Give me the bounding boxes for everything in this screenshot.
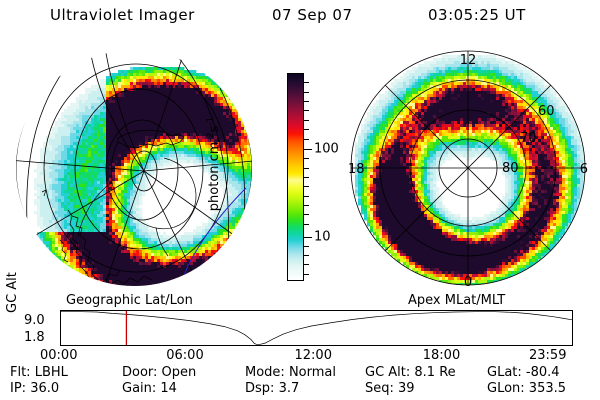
aurora-pixel (223, 274, 226, 277)
aurora-pixel (64, 124, 67, 127)
aurora-pixel (175, 85, 178, 88)
aurora-pixel (61, 253, 64, 256)
aurora-pixel (97, 280, 100, 283)
aurora-pixel (94, 103, 97, 106)
aurora-pixel (136, 112, 139, 115)
aurora-pixel (202, 298, 205, 301)
aurora-pixel (67, 220, 70, 223)
aurora-pixel (103, 85, 106, 88)
aurora-pixel (124, 190, 127, 193)
aurora-pixel (235, 241, 238, 244)
aurora-pixel (52, 229, 55, 232)
aurora-pixel (208, 253, 211, 256)
aurora-pixel (166, 79, 169, 82)
aurora-pixel (202, 91, 205, 94)
aurora-pixel (223, 292, 226, 295)
aurora-pixel (214, 109, 217, 112)
aurora-pixel (109, 136, 112, 139)
aurora-pixel (139, 277, 142, 280)
aurora-pixel (199, 103, 202, 106)
aurora-pixel (235, 94, 238, 97)
aurora-pixel (184, 124, 187, 127)
aurora-pixel (100, 268, 103, 271)
aurora-pixel (82, 175, 85, 178)
aurora-pixel (79, 193, 82, 196)
aurora-pixel (238, 262, 241, 265)
aurora-pixel (88, 193, 91, 196)
aurora-pixel (166, 247, 169, 250)
aurora-pixel (202, 85, 205, 88)
aurora-pixel (61, 142, 64, 145)
aurora-pixel (127, 259, 130, 262)
aurora-pixel (244, 253, 247, 256)
aurora-pixel (88, 268, 91, 271)
aurora-pixel (70, 166, 73, 169)
aurora-pixel (130, 85, 133, 88)
aurora-pixel (55, 232, 58, 235)
aurora-pixel (238, 256, 241, 259)
aurora-pixel (88, 121, 91, 124)
aurora-pixel (112, 115, 115, 118)
aurora-pixel (250, 265, 253, 268)
aurora-pixel (223, 121, 226, 124)
aurora-pixel (82, 229, 85, 232)
aurora-pixel (43, 214, 46, 217)
aurora-pixel (52, 202, 55, 205)
aurora-pixel (73, 145, 76, 148)
aurora-pixel (229, 253, 232, 256)
aurora-pixel (226, 133, 229, 136)
aurora-pixel (232, 220, 235, 223)
aurora-pixel (64, 193, 67, 196)
aurora-pixel (121, 262, 124, 265)
aurora-pixel (82, 202, 85, 205)
aurora-pixel (178, 253, 181, 256)
aurora-pixel (175, 286, 178, 289)
aurora-pixel (127, 118, 130, 121)
aurora-pixel (151, 118, 154, 121)
aurora-pixel (133, 286, 136, 289)
aurora-pixel (70, 265, 73, 268)
aurora-pixel (115, 73, 118, 76)
aurora-pixel (133, 265, 136, 268)
aurora-pixel (154, 148, 157, 151)
aurora-pixel (61, 121, 64, 124)
aurora-pixel (181, 283, 184, 286)
aurora-pixel (232, 241, 235, 244)
aurora-pixel (103, 133, 106, 136)
aurora-pixel (187, 88, 190, 91)
aurora-pixel (235, 163, 238, 166)
aurora-pixel (250, 193, 253, 196)
aurora-pixel (55, 199, 58, 202)
aurora-pixel (241, 100, 244, 103)
aurora-pixel (247, 214, 250, 217)
aurora-pixel (199, 130, 202, 133)
aurora-pixel (190, 271, 193, 274)
aurora-pixel (232, 151, 235, 154)
aurora-pixel (127, 205, 130, 208)
aurora-pixel (214, 283, 217, 286)
aurora-pixel (184, 151, 187, 154)
aurora-pixel (124, 196, 127, 199)
aurora-pixel (85, 169, 88, 172)
aurora-pixel (97, 151, 100, 154)
aurora-pixel (97, 157, 100, 160)
aurora-pixel (109, 277, 112, 280)
aurora-pixel (196, 274, 199, 277)
aurora-pixel (172, 109, 175, 112)
aurora-pixel (193, 283, 196, 286)
aurora-pixel (85, 136, 88, 139)
aurora-pixel (49, 145, 52, 148)
aurora-pixel (79, 244, 82, 247)
aurora-pixel (235, 184, 238, 187)
aurora-pixel (244, 271, 247, 274)
aurora-pixel (118, 187, 121, 190)
aurora-pixel (97, 91, 100, 94)
aurora-pixel (58, 265, 61, 268)
aurora-pixel (223, 112, 226, 115)
aurora-pixel (115, 259, 118, 262)
aurora-pixel (229, 148, 232, 151)
aurora-pixel (88, 133, 91, 136)
aurora-pixel (37, 181, 40, 184)
aurora-pixel (202, 289, 205, 292)
aurora-pixel (76, 160, 79, 163)
aurora-pixel (88, 175, 91, 178)
aurora-pixel (70, 172, 73, 175)
aurora-pixel (127, 166, 130, 169)
aurora-pixel (154, 247, 157, 250)
aurora-pixel (70, 286, 73, 289)
aurora-pixel (49, 241, 52, 244)
aurora-pixel (103, 79, 106, 82)
aurora-pixel (64, 238, 67, 241)
aurora-pixel (91, 106, 94, 109)
aurora-pixel (181, 67, 184, 70)
aurora-pixel (145, 226, 148, 229)
aurora-pixel (223, 235, 226, 238)
aurora-pixel (79, 271, 82, 274)
aurora-pixel (235, 214, 238, 217)
aurora-pixel (229, 274, 232, 277)
aurora-pixel (121, 145, 124, 148)
aurora-pixel (220, 100, 223, 103)
aurora-pixel (157, 271, 160, 274)
aurora-pixel (136, 229, 139, 232)
aurora-pixel (91, 124, 94, 127)
aurora-pixel (184, 91, 187, 94)
aurora-pixel (229, 268, 232, 271)
aurora-pixel (151, 124, 154, 127)
aurora-pixel (214, 295, 217, 298)
aurora-pixel (109, 100, 112, 103)
aurora-pixel (247, 208, 250, 211)
aurora-pixel (232, 169, 235, 172)
aurora-pixel (232, 94, 235, 97)
aurora-pixel (109, 289, 112, 292)
aurora-pixel (160, 280, 163, 283)
aurora-pixel (145, 94, 148, 97)
aurora-pixel (103, 190, 106, 193)
aurora-pixel (58, 154, 61, 157)
aurora-pixel (199, 256, 202, 259)
aurora-pixel (103, 214, 106, 217)
aurora-pixel (190, 106, 193, 109)
aurora-pixel (229, 199, 232, 202)
aurora-pixel (196, 118, 199, 121)
aurora-pixel (202, 277, 205, 280)
aurora-pixel (157, 97, 160, 100)
aurora-pixel (58, 178, 61, 181)
aurora-pixel (238, 178, 241, 181)
aurora-pixel (223, 157, 226, 160)
aurora-pixel (211, 253, 214, 256)
aurora-pixel (97, 274, 100, 277)
aurora-pixel (253, 160, 256, 163)
aurora-pixel (247, 259, 250, 262)
aurora-pixel (244, 151, 247, 154)
aurora-pixel (76, 238, 79, 241)
aurora-pixel (133, 274, 136, 277)
aurora-pixel (235, 175, 238, 178)
aurora-pixel (241, 133, 244, 136)
aurora-pixel (127, 187, 130, 190)
aurora-pixel (232, 175, 235, 178)
aurora-pixel (220, 85, 223, 88)
aurora-pixel (232, 211, 235, 214)
aurora-pixel (58, 118, 61, 121)
aurora-pixel (169, 130, 172, 133)
aurora-pixel (241, 139, 244, 142)
aurora-pixel (58, 133, 61, 136)
aurora-pixel (49, 235, 52, 238)
aurora-pixel (160, 145, 163, 148)
aurora-pixel (214, 85, 217, 88)
aurora-pixel (199, 124, 202, 127)
aurora-pixel (55, 244, 58, 247)
aurora-pixel (217, 232, 220, 235)
aurora-pixel (223, 205, 226, 208)
aurora-pixel (211, 241, 214, 244)
aurora-pixel (190, 97, 193, 100)
aurora-pixel (82, 265, 85, 268)
aurora-pixel (229, 127, 232, 130)
aurora-pixel (235, 259, 238, 262)
aurora-pixel (232, 127, 235, 130)
aurora-pixel (82, 115, 85, 118)
aurora-pixel (79, 100, 82, 103)
aurora-pixel (130, 262, 133, 265)
aurora-pixel (40, 157, 43, 160)
aurora-pixel (235, 166, 238, 169)
aurora-pixel (82, 169, 85, 172)
aurora-pixel (88, 103, 91, 106)
aurora-pixel (169, 76, 172, 79)
aurora-pixel (208, 244, 211, 247)
aurora-pixel (172, 121, 175, 124)
aurora-pixel (205, 94, 208, 97)
aurora-pixel (94, 136, 97, 139)
aurora-pixel (109, 199, 112, 202)
aurora-pixel (211, 265, 214, 268)
aurora-pixel (52, 259, 55, 262)
aurora-pixel (196, 229, 199, 232)
aurora-pixel (223, 88, 226, 91)
aurora-pixel (115, 169, 118, 172)
aurora-pixel (115, 262, 118, 265)
aurora-pixel (184, 145, 187, 148)
aurora-pixel (64, 274, 67, 277)
aurora-pixel (184, 85, 187, 88)
aurora-pixel (247, 205, 250, 208)
aurora-pixel (112, 178, 115, 181)
aurora-pixel (124, 115, 127, 118)
aurora-pixel (148, 232, 151, 235)
aurora-pixel (166, 286, 169, 289)
aurora-pixel (43, 211, 46, 214)
aurora-pixel (241, 226, 244, 229)
aurora-pixel (169, 241, 172, 244)
aurora-pixel (49, 181, 52, 184)
aurora-pixel (40, 205, 43, 208)
aurora-pixel (55, 124, 58, 127)
aurora-pixel (103, 220, 106, 223)
aurora-pixel (199, 232, 202, 235)
aurora-pixel (130, 67, 133, 70)
aurora-pixel (244, 124, 247, 127)
aurora-pixel (223, 244, 226, 247)
aurora-pixel (187, 289, 190, 292)
aurora-pixel (88, 247, 91, 250)
aurora-pixel (238, 118, 241, 121)
aurora-pixel (244, 109, 247, 112)
aurora-pixel (52, 238, 55, 241)
aurora-pixel (250, 196, 253, 199)
aurora-pixel (229, 166, 232, 169)
aurora-pixel (103, 232, 106, 235)
aurora-pixel (136, 241, 139, 244)
aurora-pixel (133, 160, 136, 163)
aurora-pixel (226, 259, 229, 262)
aurora-pixel (85, 181, 88, 184)
aurora-pixel (214, 100, 217, 103)
aurora-pixel (253, 205, 256, 208)
aurora-pixel (88, 184, 91, 187)
aurora-pixel (106, 139, 109, 142)
aurora-pixel (169, 268, 172, 271)
aurora-pixel (193, 268, 196, 271)
aurora-pixel (106, 121, 109, 124)
aurora-pixel (208, 259, 211, 262)
aurora-pixel (205, 256, 208, 259)
aurora-pixel (121, 97, 124, 100)
aurora-pixel (241, 232, 244, 235)
aurora-pixel (244, 256, 247, 259)
aurora-pixel (85, 262, 88, 265)
aurora-pixel (205, 250, 208, 253)
aurora-pixel (160, 97, 163, 100)
aurora-pixel (184, 286, 187, 289)
aurora-pixel (226, 295, 229, 298)
aurora-pixel (37, 169, 40, 172)
aurora-pixel (163, 121, 166, 124)
aurora-pixel (181, 268, 184, 271)
aurora-pixel (136, 91, 139, 94)
aurora-pixel (133, 256, 136, 259)
aurora-pixel (37, 190, 40, 193)
aurora-pixel (133, 232, 136, 235)
aurora-pixel (232, 193, 235, 196)
aurora-pixel (184, 235, 187, 238)
aurora-pixel (64, 154, 67, 157)
aurora-pixel (127, 199, 130, 202)
aurora-pixel (52, 205, 55, 208)
aurora-pixel (229, 133, 232, 136)
aurora-pixel (235, 226, 238, 229)
aurora-pixel (199, 106, 202, 109)
aurora-pixel (205, 289, 208, 292)
aurora-pixel (109, 202, 112, 205)
aurora-pixel (193, 235, 196, 238)
aurora-pixel (115, 220, 118, 223)
aurora-pixel (148, 286, 151, 289)
aurora-pixel (61, 184, 64, 187)
aurora-pixel (97, 250, 100, 253)
aurora-pixel (232, 142, 235, 145)
aurora-pixel (247, 211, 250, 214)
aurora-pixel (106, 112, 109, 115)
aurora-pixel (142, 112, 145, 115)
aurora-pixel (112, 103, 115, 106)
aurora-pixel (124, 232, 127, 235)
aurora-pixel (91, 193, 94, 196)
aurora-pixel (130, 289, 133, 292)
aurora-pixel (148, 115, 151, 118)
aurora-pixel (250, 145, 253, 148)
aurora-pixel (160, 100, 163, 103)
aurora-pixel (220, 292, 223, 295)
aurora-pixel (76, 127, 79, 130)
aurora-pixel (223, 214, 226, 217)
aurora-pixel (127, 115, 130, 118)
aurora-pixel (58, 211, 61, 214)
aurora-pixel (244, 157, 247, 160)
aurora-pixel (172, 250, 175, 253)
aurora-pixel (103, 259, 106, 262)
aurora-pixel (229, 169, 232, 172)
aurora-pixel (100, 169, 103, 172)
aurora-pixel (139, 136, 142, 139)
aurora-pixel (46, 229, 49, 232)
aurora-pixel (214, 82, 217, 85)
aurora-pixel (157, 250, 160, 253)
aurora-pixel (124, 76, 127, 79)
aurora-pixel (127, 253, 130, 256)
aurora-pixel (76, 205, 79, 208)
aurora-pixel (79, 289, 82, 292)
aurora-pixel (85, 145, 88, 148)
aurora-pixel (142, 280, 145, 283)
aurora-pixel (145, 145, 148, 148)
aurora-pixel (187, 139, 190, 142)
aurora-pixel (217, 295, 220, 298)
aurora-pixel (226, 292, 229, 295)
aurora-pixel (115, 283, 118, 286)
aurora-pixel (139, 223, 142, 226)
aurora-pixel (118, 76, 121, 79)
